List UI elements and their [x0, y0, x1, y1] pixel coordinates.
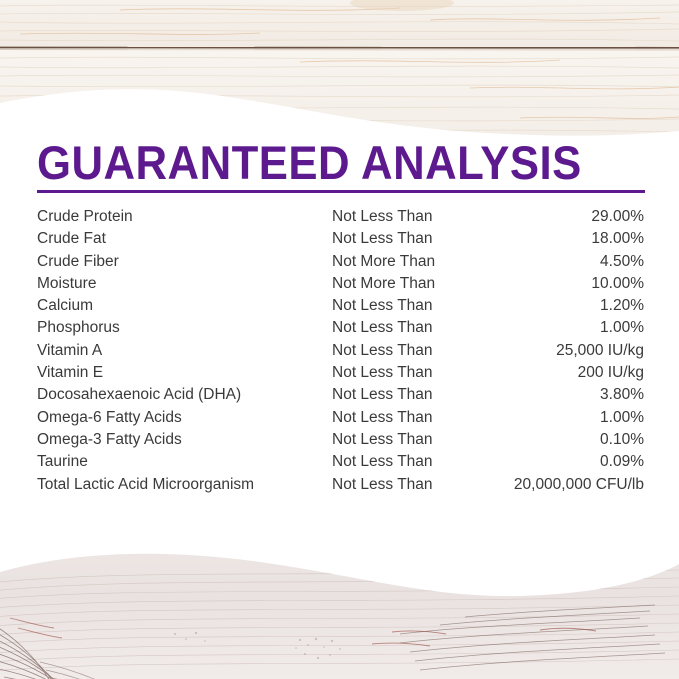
wood-texture-top	[0, 0, 679, 140]
table-row: MoistureNot More Than10.00%	[37, 273, 644, 295]
nutrient-qualifier: Not Less Than	[332, 206, 482, 228]
analysis-content: GUARANTEED ANALYSIS Crude ProteinNot Les…	[0, 120, 679, 520]
table-row: Vitamin ANot Less Than25,000 IU/kg	[37, 340, 644, 362]
table-row: Crude FatNot Less Than18.00%	[37, 228, 644, 250]
wood-bottom-graphic	[0, 512, 679, 679]
nutrient-name: Taurine	[37, 451, 332, 473]
nutrient-value: 20,000,000 CFU/lb	[482, 474, 644, 496]
nutrient-value: 1.00%	[482, 317, 644, 339]
nutrient-name: Crude Fiber	[37, 251, 332, 273]
nutrient-name: Vitamin A	[37, 340, 332, 362]
table-row: Omega-6 Fatty AcidsNot Less Than1.00%	[37, 407, 644, 429]
nutrient-value: 200 IU/kg	[482, 362, 644, 384]
nutrient-value: 4.50%	[482, 251, 644, 273]
nutrient-value: 10.00%	[482, 273, 644, 295]
nutrient-value: 1.20%	[482, 295, 644, 317]
page-title: GUARANTEED ANALYSIS	[37, 138, 582, 188]
nutrient-qualifier: Not Less Than	[332, 384, 482, 406]
nutrient-qualifier: Not Less Than	[332, 228, 482, 250]
wood-top-graphic	[0, 0, 679, 140]
nutrient-name: Crude Protein	[37, 206, 332, 228]
nutrient-qualifier: Not Less Than	[332, 340, 482, 362]
nutrient-name: Calcium	[37, 295, 332, 317]
nutrient-qualifier: Not More Than	[332, 251, 482, 273]
nutrient-qualifier: Not Less Than	[332, 317, 482, 339]
table-row: TaurineNot Less Than0.09%	[37, 451, 644, 473]
table-row: Crude ProteinNot Less Than29.00%	[37, 206, 644, 228]
nutrient-value: 18.00%	[482, 228, 644, 250]
nutrient-name: Omega-3 Fatty Acids	[37, 429, 332, 451]
nutrient-name: Moisture	[37, 273, 332, 295]
table-row: Vitamin ENot Less Than200 IU/kg	[37, 362, 644, 384]
nutrient-qualifier: Not Less Than	[332, 451, 482, 473]
nutrient-name: Docosahexaenoic Acid (DHA)	[37, 384, 332, 406]
guaranteed-analysis-panel: GUARANTEED ANALYSIS Crude ProteinNot Les…	[0, 0, 679, 679]
nutrient-value: 0.10%	[482, 429, 644, 451]
nutrient-qualifier: Not More Than	[332, 273, 482, 295]
table-row: CalciumNot Less Than1.20%	[37, 295, 644, 317]
nutrient-qualifier: Not Less Than	[332, 362, 482, 384]
nutrient-value: 25,000 IU/kg	[482, 340, 644, 362]
title-divider	[37, 190, 645, 193]
nutrient-qualifier: Not Less Than	[332, 474, 482, 496]
nutrient-name: Total Lactic Acid Microorganism	[37, 474, 332, 496]
nutrient-value: 0.09%	[482, 451, 644, 473]
table-body: Crude ProteinNot Less Than29.00%Crude Fa…	[37, 206, 644, 496]
guaranteed-analysis-table: Crude ProteinNot Less Than29.00%Crude Fa…	[37, 206, 644, 496]
table-row: Docosahexaenoic Acid (DHA)Not Less Than3…	[37, 384, 644, 406]
nutrient-value: 1.00%	[482, 407, 644, 429]
nutrient-qualifier: Not Less Than	[332, 295, 482, 317]
nutrient-name: Vitamin E	[37, 362, 332, 384]
nutrient-name: Crude Fat	[37, 228, 332, 250]
nutrient-name: Phosphorus	[37, 317, 332, 339]
nutrient-qualifier: Not Less Than	[332, 407, 482, 429]
table-row: Total Lactic Acid MicroorganismNot Less …	[37, 474, 644, 496]
table-row: Omega-3 Fatty AcidsNot Less Than0.10%	[37, 429, 644, 451]
nutrient-qualifier: Not Less Than	[332, 429, 482, 451]
wood-texture-bottom	[0, 512, 679, 679]
table-row: PhosphorusNot Less Than1.00%	[37, 317, 644, 339]
nutrient-value: 29.00%	[482, 206, 644, 228]
nutrient-name: Omega-6 Fatty Acids	[37, 407, 332, 429]
nutrient-value: 3.80%	[482, 384, 644, 406]
table-row: Crude FiberNot More Than4.50%	[37, 251, 644, 273]
